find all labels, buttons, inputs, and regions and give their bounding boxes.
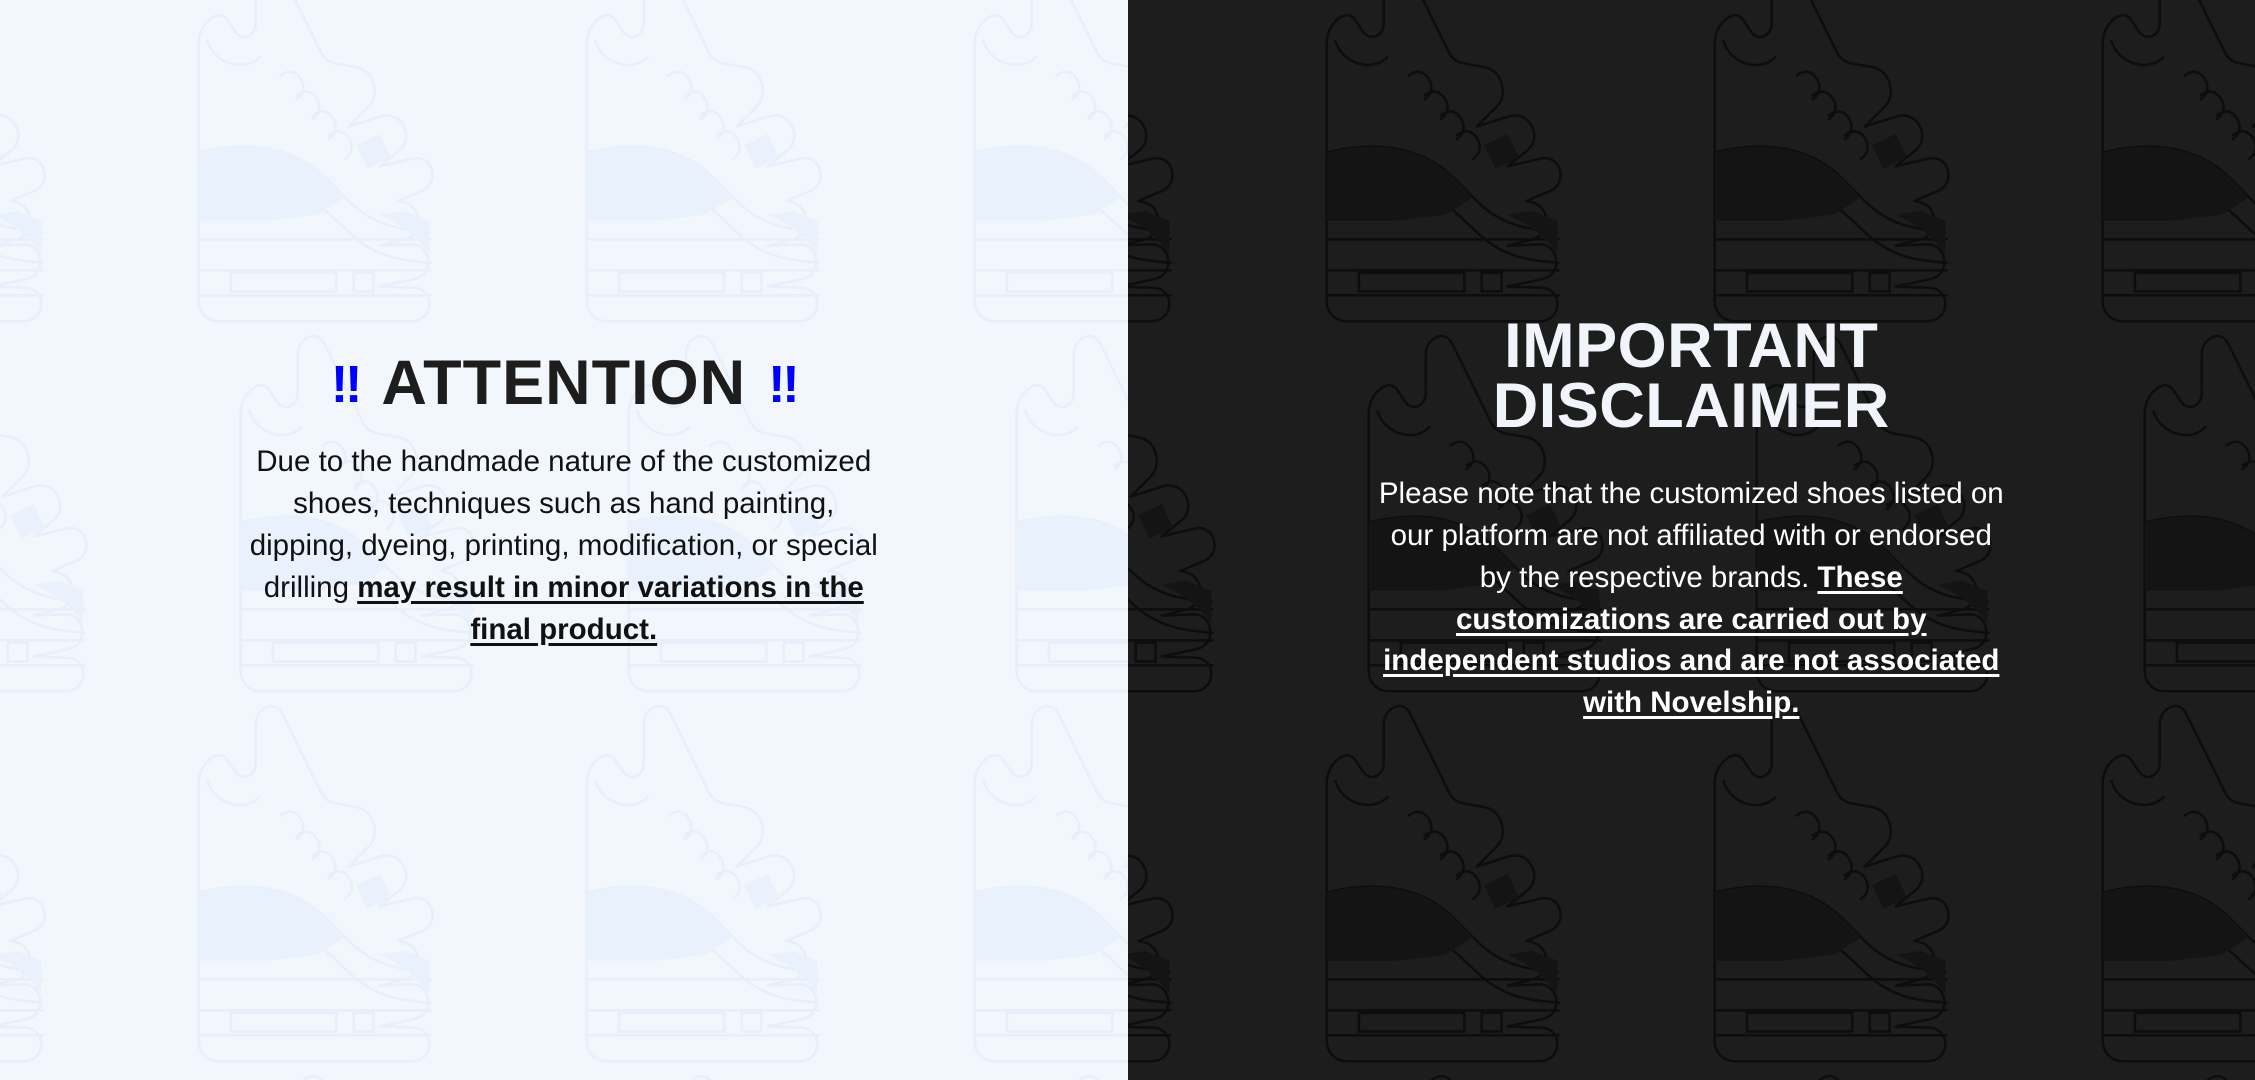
disclaimer-heading: IMPORTANT DISCLAIMER bbox=[1168, 316, 2216, 437]
disclaimer-banner: ‼ATTENTION‼ Due to the handmade nature o… bbox=[0, 0, 2255, 1080]
attention-body-emphasis: may result in minor variations in the fi… bbox=[357, 571, 864, 646]
disclaimer-panel: IMPORTANT DISCLAIMER Please note that th… bbox=[1128, 0, 2255, 1080]
disclaimer-heading-line-1: IMPORTANT bbox=[1168, 316, 2216, 376]
attention-heading-word: ATTENTION bbox=[381, 348, 746, 418]
disclaimer-body-normal: Please note that the customized shoes li… bbox=[1379, 477, 2004, 594]
double-exclamation-left-icon: ‼ bbox=[331, 356, 359, 414]
attention-body: Due to the handmade nature of the custom… bbox=[244, 441, 884, 650]
disclaimer-heading-line-2: DISCLAIMER bbox=[1168, 376, 2216, 436]
double-exclamation-right-icon: ‼ bbox=[768, 356, 796, 414]
attention-panel: ‼ATTENTION‼ Due to the handmade nature o… bbox=[0, 0, 1128, 1080]
disclaimer-content: IMPORTANT DISCLAIMER Please note that th… bbox=[1128, 316, 2255, 724]
attention-heading: ‼ATTENTION‼ bbox=[40, 352, 1088, 415]
disclaimer-body: Please note that the customized shoes li… bbox=[1371, 473, 2011, 724]
attention-content: ‼ATTENTION‼ Due to the handmade nature o… bbox=[0, 352, 1128, 650]
